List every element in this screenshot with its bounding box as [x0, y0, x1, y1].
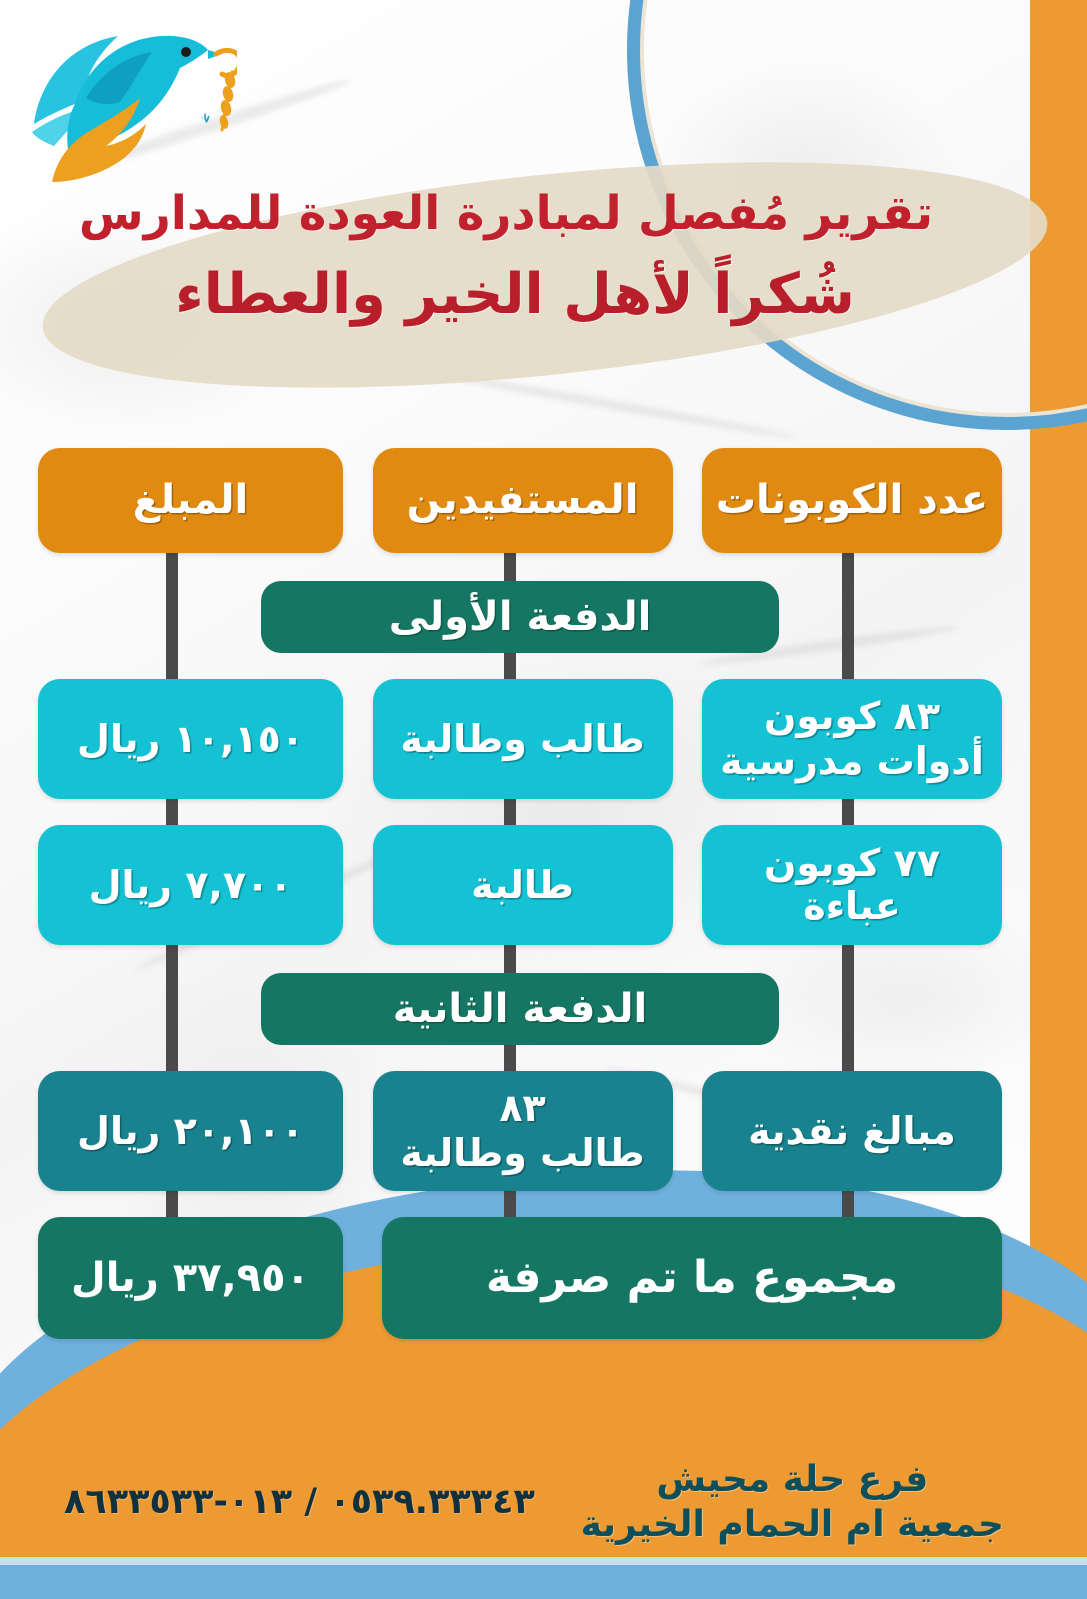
footer-organization: فرع حلة محيش جمعية ام الحمام الخيرية [581, 1457, 1004, 1547]
cell-beneficiaries-line1: ٨٣ [400, 1087, 644, 1130]
cell-amount: ٢٠,١٠٠ ريال [38, 1071, 343, 1191]
report-table: عدد الكوبونات المستفيدين المبلغ الدفعة ا… [0, 448, 1040, 1339]
section-title-first-payment: الدفعة الأولى [261, 581, 779, 653]
table-row: ٧٧ كوبون عباءة طالبة ٧,٧٠٠ ريال [0, 825, 1040, 945]
cell-beneficiaries-line2: طالب وطالبة [400, 1132, 644, 1175]
table-total-row: مجموع ما تم صرفة ٣٧,٩٥٠ ريال [0, 1217, 1040, 1339]
total-label: مجموع ما تم صرفة [382, 1217, 1002, 1339]
organization-logo: جمعية أم الحمام الخيرية - فرع حلة محيش [22, 14, 237, 199]
footer-org-name: جمعية ام الحمام الخيرية [581, 1502, 1004, 1547]
bottom-band-blue [0, 1565, 1087, 1599]
poster-footer: فرع حلة محيش جمعية ام الحمام الخيرية ٠٥٣… [0, 1457, 1060, 1547]
bottom-band-light [0, 1557, 1087, 1565]
cell-coupons: ٧٧ كوبون عباءة [702, 825, 1002, 945]
cell-amount: ١٠,١٥٠ ريال [38, 679, 343, 799]
poster-page: جمعية أم الحمام الخيرية - فرع حلة محيش ت… [0, 0, 1087, 1599]
cell-coupons: ٨٣ كوبون أدوات مدرسية [702, 679, 1002, 799]
footer-phone-numbers: ٠٥٣٩.٣٣٣٤٣ / ٠١٣-٨٦٣٣٥٣٣ [64, 1482, 535, 1522]
section-title-second-payment: الدفعة الثانية [261, 973, 779, 1045]
dove-with-wheat-logo-icon: جمعية أم الحمام الخيرية - فرع حلة محيش [22, 14, 237, 199]
table-row: ٨٣ كوبون أدوات مدرسية طالب وطالبة ١٠,١٥٠… [0, 679, 1040, 799]
header-amount: المبلغ [38, 448, 343, 553]
cell-beneficiaries: طالب وطالبة [373, 679, 673, 799]
table-header-row: عدد الكوبونات المستفيدين المبلغ [0, 448, 1040, 553]
cell-amount: ٧,٧٠٠ ريال [38, 825, 343, 945]
poster-titles: تقرير مُفصل لمبادرة العودة للمدارس شُكرا… [0, 186, 1040, 329]
report-title-line-2: شُكراً لأهل الخير والعطاء [0, 261, 1040, 328]
header-beneficiaries: المستفيدين [373, 448, 673, 553]
cell-coupons-line1: ٨٣ كوبون [720, 695, 984, 738]
header-coupons: عدد الكوبونات [702, 448, 1002, 553]
cell-coupons: مبالغ نقدية [702, 1071, 1002, 1191]
table-row: مبالغ نقدية ٨٣ طالب وطالبة ٢٠,١٠٠ ريال [0, 1071, 1040, 1191]
cell-coupons-line2: أدوات مدرسية [720, 740, 984, 783]
cell-beneficiaries: طالبة [373, 825, 673, 945]
footer-branch-name: فرع حلة محيش [581, 1457, 1004, 1502]
cell-beneficiaries: ٨٣ طالب وطالبة [373, 1071, 673, 1191]
total-amount: ٣٧,٩٥٠ ريال [38, 1217, 343, 1339]
